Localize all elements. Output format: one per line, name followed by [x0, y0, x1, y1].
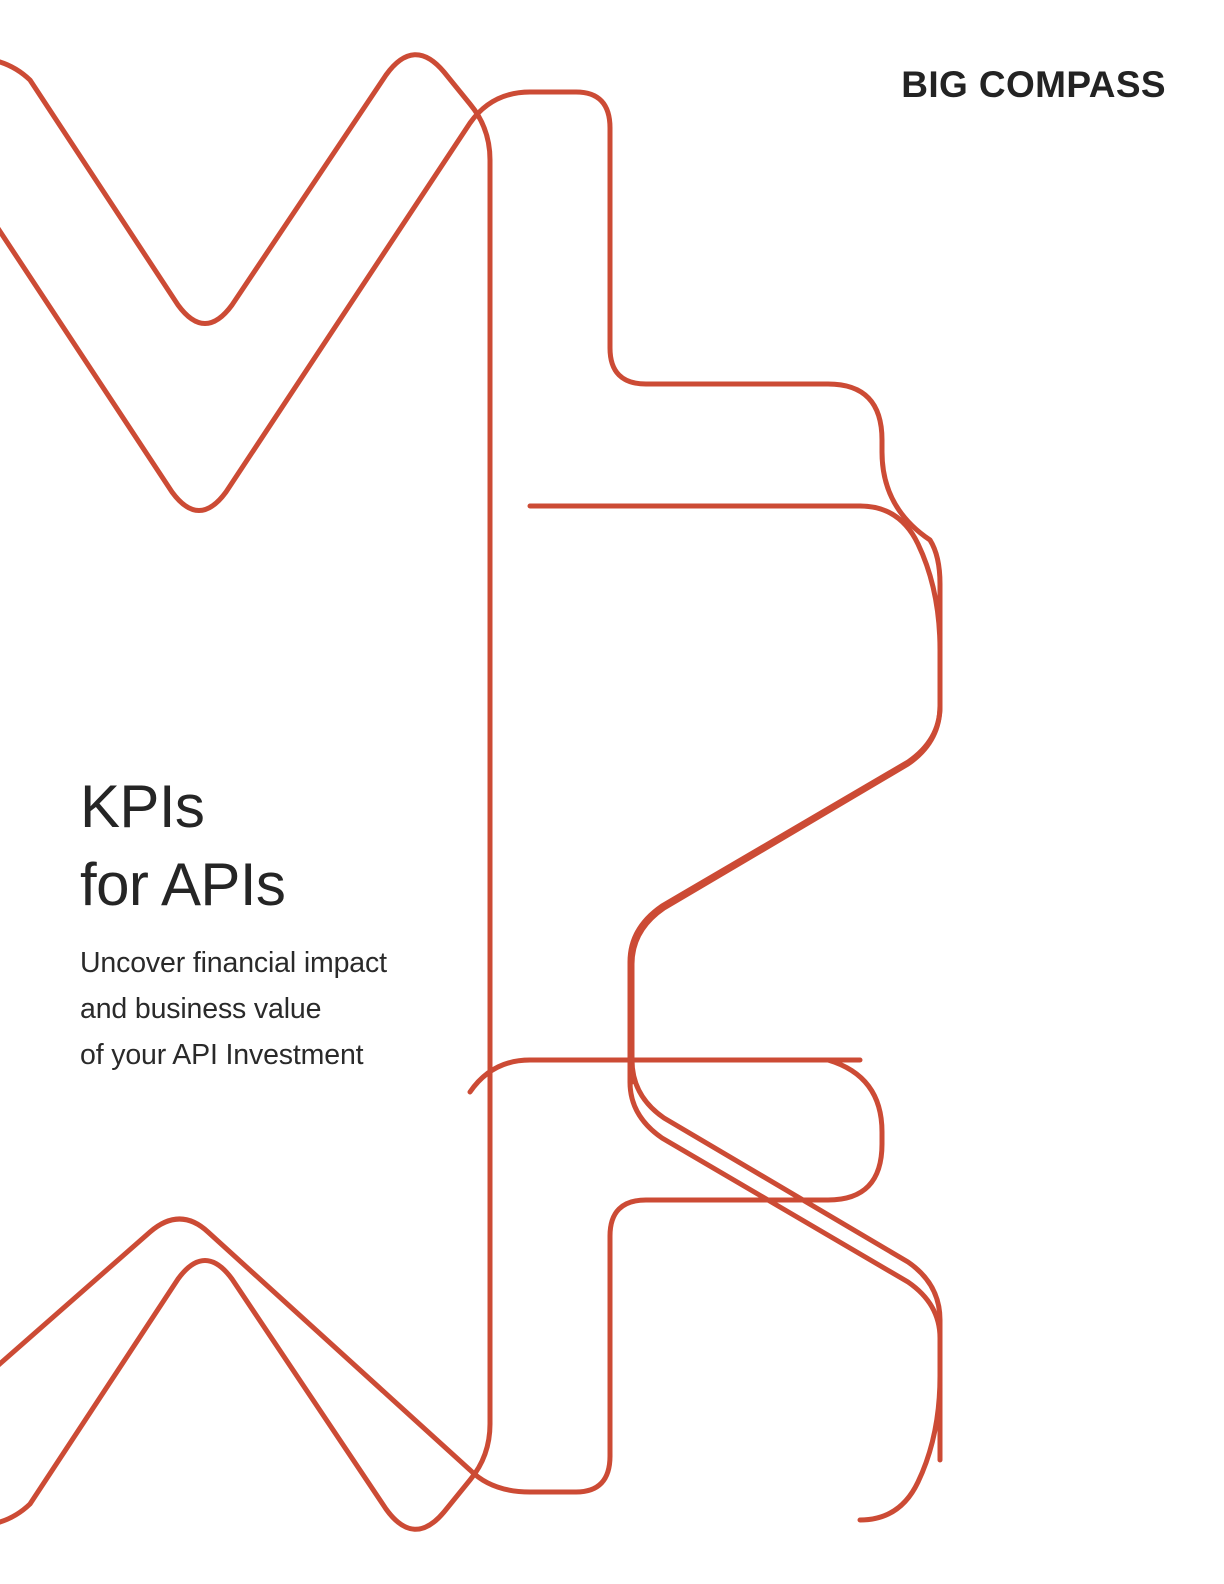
page-subtitle: Uncover financial impact and business va…	[80, 940, 600, 1078]
subtitle-line-2: and business value	[80, 986, 600, 1032]
subtitle-line-1: Uncover financial impact	[80, 940, 600, 986]
brand-logo: BIG COMPASS	[901, 66, 1166, 103]
subtitle-line-3: of your API Investment	[80, 1032, 600, 1078]
page-title: KPIs for APIs	[80, 768, 600, 924]
title-line-2: for APIs	[80, 846, 600, 924]
title-line-1: KPIs	[80, 768, 600, 846]
cover-page: BIG COMPASS KPIs for APIs Uncover financ…	[0, 0, 1224, 1584]
